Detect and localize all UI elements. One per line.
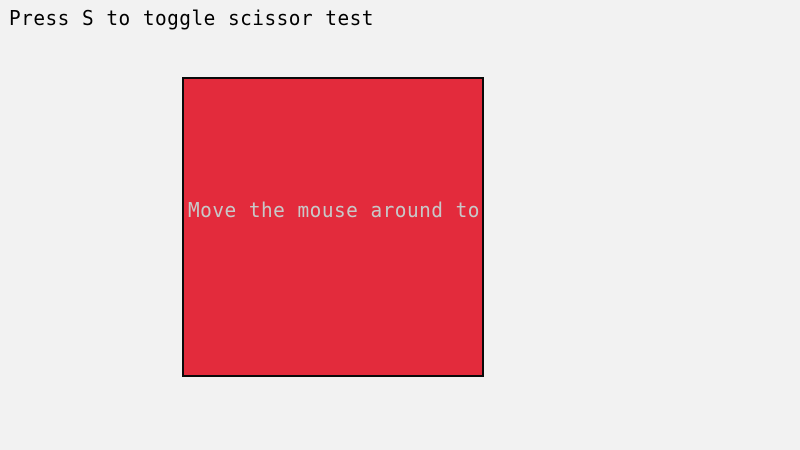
scissor-clipped-message: Move the mouse around to r <box>188 199 482 221</box>
scissor-clip-container: Move the mouse around to r <box>184 79 482 375</box>
scissor-test-canvas: Press S to toggle scissor test Move the … <box>0 0 800 450</box>
toggle-scissor-hint-label: Press S to toggle scissor test <box>9 6 374 30</box>
scissor-region-rectangle[interactable]: Move the mouse around to r <box>182 77 484 377</box>
